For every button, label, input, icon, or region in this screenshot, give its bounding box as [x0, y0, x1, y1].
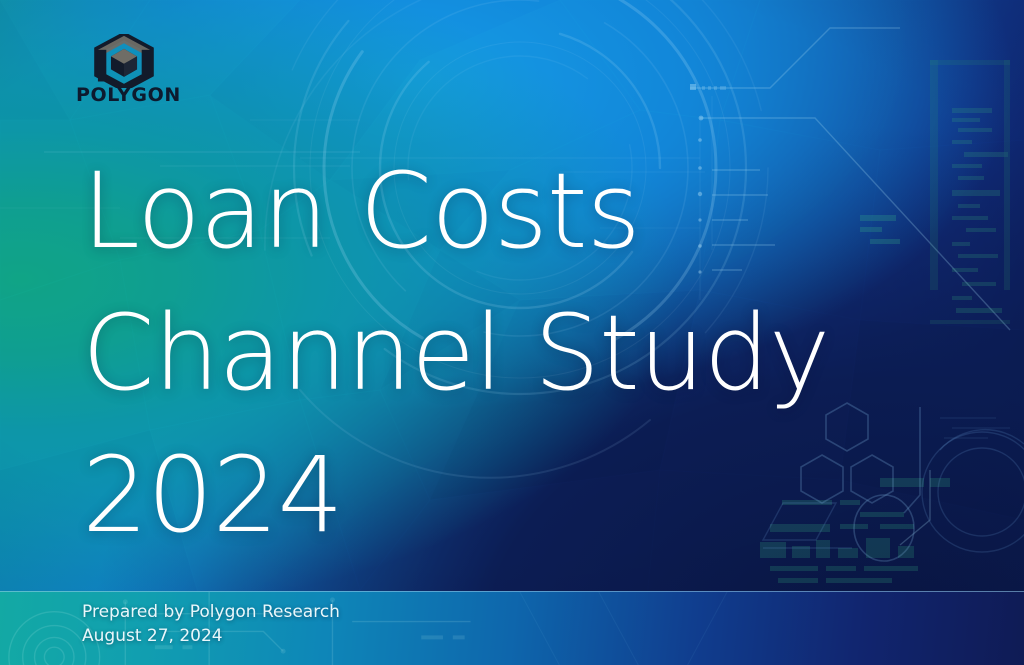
title-slide: POLYGON Loan Costs Channel Study 2024 [0, 0, 1024, 665]
title-line-3: 2024 [82, 424, 962, 566]
polygon-logo[interactable]: POLYGON [76, 34, 176, 112]
page-title: Loan Costs Channel Study 2024 [82, 140, 962, 566]
date-text: August 27, 2024 [82, 624, 340, 648]
banner-text: Prepared by Polygon Research August 27, … [82, 600, 340, 648]
logo-wordmark: POLYGON [76, 86, 176, 105]
title-line-1: Loan Costs [82, 140, 962, 282]
footer-banner: Prepared by Polygon Research August 27, … [0, 591, 1024, 665]
prepared-by-text: Prepared by Polygon Research [82, 600, 340, 624]
polygon-hexagon-cube-icon [90, 34, 158, 88]
title-line-2: Channel Study [82, 282, 962, 424]
